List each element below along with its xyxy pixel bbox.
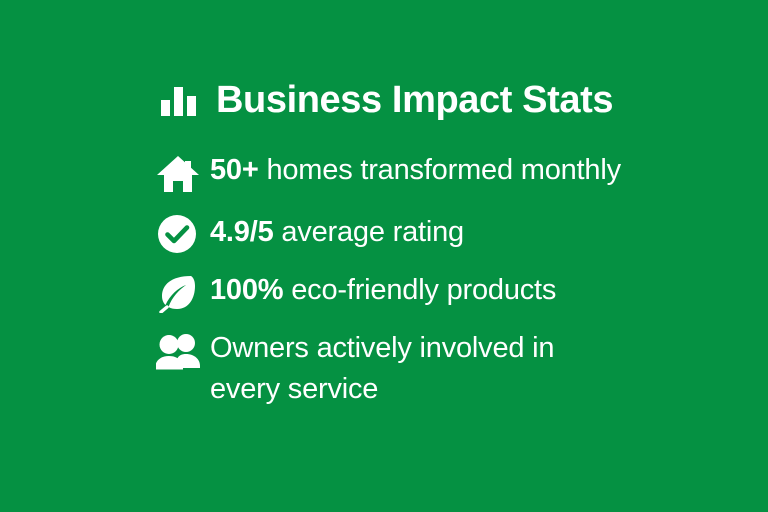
stat-label-eco: eco-friendly products <box>283 274 556 306</box>
stat-text-homes: 50+ homes transformed monthly <box>210 148 630 191</box>
business-impact-stats-card: Business Impact Stats 50+ homes transfor… <box>156 78 656 410</box>
stat-text-rating: 4.9/5 average rating <box>210 210 630 253</box>
stat-highlight-homes: 50+ <box>210 154 259 186</box>
check-circle-icon <box>156 210 210 256</box>
leaf-icon <box>156 268 210 314</box>
stat-highlight-rating: 4.9/5 <box>210 216 274 248</box>
bar-chart-icon <box>156 78 202 124</box>
stat-label-owners: Owners actively involved in every servic… <box>210 332 554 405</box>
stat-list: 50+ homes transformed monthly 4.9/5 aver… <box>156 148 656 410</box>
stat-row-rating: 4.9/5 average rating <box>156 210 656 256</box>
house-icon <box>156 148 210 198</box>
stat-label-rating: average rating <box>274 216 464 248</box>
stat-label-homes: homes transformed monthly <box>259 154 621 186</box>
stat-text-eco: 100% eco-friendly products <box>210 268 630 311</box>
stat-highlight-eco: 100% <box>210 274 283 306</box>
people-icon <box>156 326 210 376</box>
stat-text-owners: Owners actively involved in every servic… <box>210 326 630 410</box>
stat-row-eco: 100% eco-friendly products <box>156 268 656 314</box>
stat-row-owners: Owners actively involved in every servic… <box>156 326 656 410</box>
page-title: Business Impact Stats <box>216 81 613 121</box>
stat-row-homes: 50+ homes transformed monthly <box>156 148 656 198</box>
card-header: Business Impact Stats <box>156 78 656 124</box>
